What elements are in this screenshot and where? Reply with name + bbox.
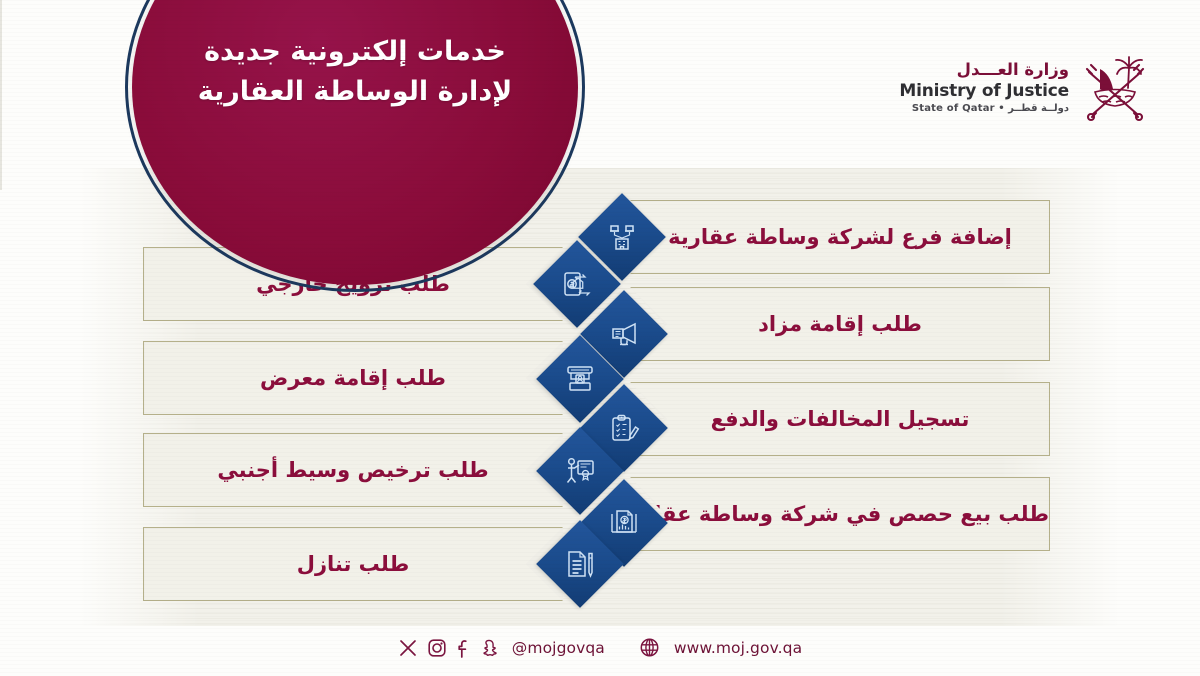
service-bar-left-4[interactable]: طلب تنازل <box>143 527 563 601</box>
qatar-state-emblem-icon <box>1082 52 1148 124</box>
infographic-canvas: خدمات إلكترونية جديدة لإدارة الوساطة الع… <box>0 0 1200 676</box>
service-label: تسجيل المخالفات والدفع <box>631 406 1049 432</box>
service-label: طلب إقامة معرض <box>144 365 562 391</box>
service-bar-right-4[interactable]: طلب بيع حصص في شركة وساطة عقارية <box>630 477 1050 551</box>
ministry-logo: وزارة العـــدل Ministry of Justice دولــ… <box>899 52 1148 124</box>
globe-icon[interactable] <box>639 637 660 658</box>
x-twitter-icon[interactable] <box>398 638 418 658</box>
service-label: طلب ترخيص وسيط أجنبي <box>144 457 562 483</box>
logo-state-line: دولــة قطــر • State of Qatar <box>899 102 1069 116</box>
title-line-2: لإدارة الوساطة العقارية <box>171 72 539 112</box>
title-line-1: خدمات إلكترونية جديدة <box>171 32 539 72</box>
social-handle[interactable]: @mojgovqa <box>512 639 605 657</box>
footer-social-bar: @mojgovqa www.moj.gov.qa <box>0 637 1200 658</box>
service-bar-right-3[interactable]: تسجيل المخالفات والدفع <box>630 382 1050 456</box>
instagram-icon[interactable] <box>427 638 447 658</box>
logo-arabic-name: وزارة العـــدل <box>899 60 1069 81</box>
snapchat-icon[interactable] <box>479 638 499 658</box>
service-label: طلب تنازل <box>144 551 562 577</box>
page-title: خدمات إلكترونية جديدة لإدارة الوساطة الع… <box>125 32 585 112</box>
service-label: طلب إقامة مزاد <box>631 311 1049 337</box>
logo-english-name: Ministry of Justice <box>899 81 1069 102</box>
service-bar-right-1[interactable]: إضافة فرع لشركة وساطة عقارية <box>630 200 1050 274</box>
facebook-icon[interactable] <box>456 638 470 658</box>
service-label: طلب بيع حصص في شركة وساطة عقارية <box>631 501 1049 527</box>
service-bar-left-2[interactable]: طلب إقامة معرض <box>143 341 563 415</box>
service-label: إضافة فرع لشركة وساطة عقارية <box>631 224 1049 250</box>
service-bar-right-2[interactable]: طلب إقامة مزاد <box>630 287 1050 361</box>
logo-text-block: وزارة العـــدل Ministry of Justice دولــ… <box>899 60 1069 116</box>
title-medallion: خدمات إلكترونية جديدة لإدارة الوساطة الع… <box>125 0 585 292</box>
website-url[interactable]: www.moj.gov.qa <box>674 639 802 657</box>
service-bar-left-3[interactable]: طلب ترخيص وسيط أجنبي <box>143 433 563 507</box>
